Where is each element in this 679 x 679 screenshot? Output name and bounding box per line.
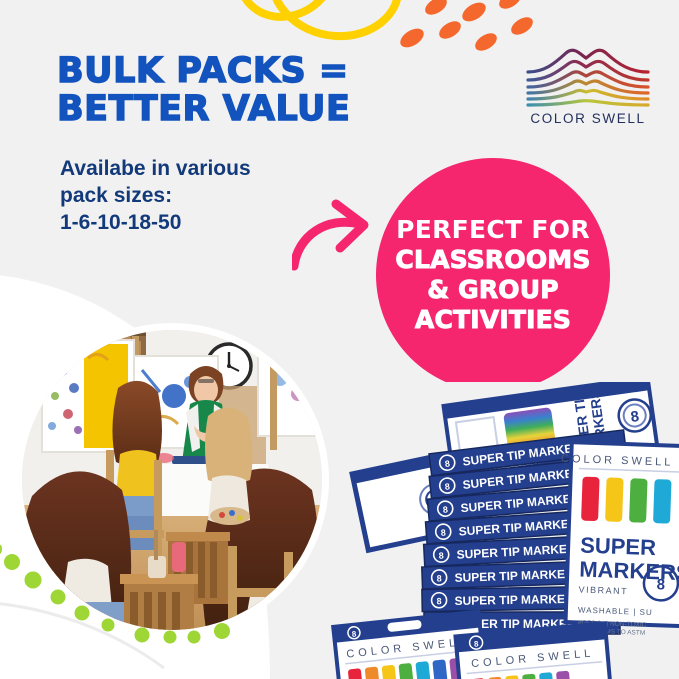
headline-line-1: BULK PACKS =	[57, 51, 349, 91]
svg-text:8: 8	[437, 596, 442, 606]
svg-text:8: 8	[444, 481, 450, 491]
badge-line-1: PERFECT FOR	[396, 215, 590, 245]
svg-text:8: 8	[437, 573, 442, 583]
green-dot-arc	[0, 545, 250, 679]
subheadline-line-1: Availabe in various	[60, 155, 360, 182]
infographic-canvas: BULK PACKS = BETTER VALUE Availabe in va…	[0, 0, 679, 679]
svg-text:8: 8	[442, 504, 448, 514]
svg-text:SUPER TIP MARKERS: SUPER TIP MARKERS	[454, 592, 581, 608]
badge-line-2: CLASSROOMS	[395, 245, 590, 275]
logo-waves-icon	[524, 48, 652, 110]
headline-line-2: BETTER VALUE	[57, 90, 437, 128]
page-title: BULK PACKS = BETTER VALUE	[57, 52, 437, 128]
badge-line-4: ACTIVITIES	[415, 305, 571, 335]
svg-text:8: 8	[438, 550, 444, 560]
svg-text:8: 8	[656, 576, 665, 593]
svg-text:VIBRANT: VIBRANT	[578, 585, 628, 597]
yellow-loop-squiggle	[232, 0, 412, 58]
badge-line-3: & GROUP	[427, 275, 559, 305]
logo-text: COLOR SWELL	[524, 111, 652, 126]
super-tip-markers-bulk-packs: 8 SUPER TIP MARKERS 8	[330, 382, 679, 679]
svg-text:8: 8	[440, 528, 446, 538]
orange-dash-dots	[398, 0, 538, 60]
color-swell-logo: COLOR SWELL	[524, 48, 652, 130]
status-badge: PERFECT FOR CLASSROOMS & GROUP ACTIVITIE…	[376, 158, 610, 392]
